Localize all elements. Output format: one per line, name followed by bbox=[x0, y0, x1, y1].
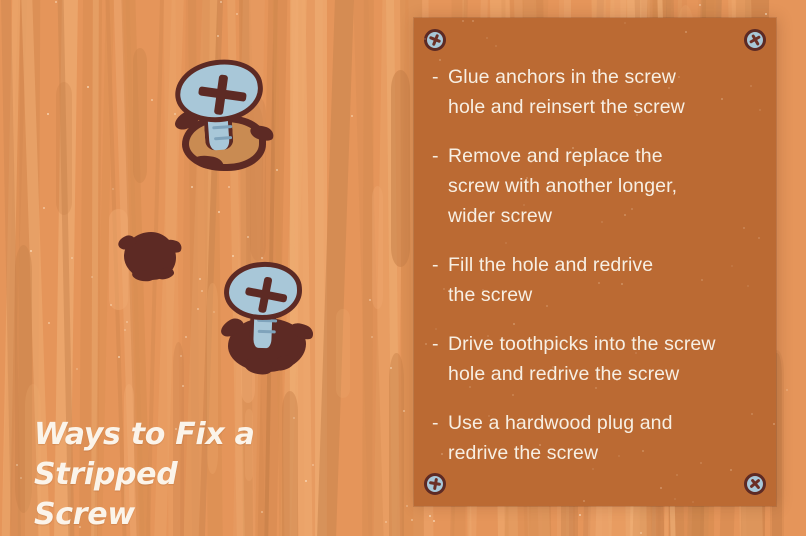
screw-thread bbox=[212, 125, 232, 129]
wood-speck bbox=[151, 99, 153, 101]
list-bullet: - bbox=[432, 408, 448, 468]
wood-speck bbox=[87, 86, 89, 88]
list-item-text: Drive toothpicks into the screw hole and… bbox=[448, 329, 766, 389]
wood-speck bbox=[385, 521, 387, 523]
panel-speck bbox=[647, 155, 649, 157]
wood-speck bbox=[390, 367, 392, 369]
wood-speck bbox=[217, 35, 219, 37]
page-title-line-1: Ways to Fix a Stripped bbox=[34, 415, 384, 495]
page-title-line-2: Screw Hole bbox=[34, 495, 214, 536]
panel-speck bbox=[435, 328, 437, 330]
panel-speck bbox=[674, 498, 676, 500]
list-item: -Drive toothpicks into the screw hole an… bbox=[432, 329, 766, 389]
wood-speck bbox=[48, 322, 50, 324]
screw-thread bbox=[258, 330, 276, 334]
panel-screw-top-left bbox=[424, 29, 446, 51]
panel-speck bbox=[486, 37, 488, 39]
wood-speck bbox=[30, 250, 32, 252]
panel-speck bbox=[523, 261, 525, 263]
panel-speck bbox=[589, 158, 591, 160]
title-block: Ways to Fix a Stripped Screw Hole from t… bbox=[34, 415, 384, 536]
panel-speck bbox=[572, 73, 574, 75]
tips-list: -Glue anchors in the screw hole and rein… bbox=[432, 62, 766, 487]
wood-speck bbox=[199, 278, 201, 280]
panel-speck bbox=[773, 423, 775, 425]
list-item: -Glue anchors in the screw hole and rein… bbox=[432, 62, 766, 122]
wood-speck bbox=[403, 410, 405, 412]
wood-speck bbox=[351, 115, 353, 117]
list-bullet: - bbox=[432, 329, 448, 389]
wood-speck bbox=[369, 299, 371, 301]
wood-speck bbox=[191, 186, 193, 188]
panel-speck bbox=[618, 455, 620, 457]
wood-grain-streak bbox=[389, 353, 403, 536]
wood-speck bbox=[118, 356, 120, 358]
wood-grain-streak bbox=[391, 70, 410, 267]
panel-screw-top-right bbox=[744, 29, 766, 51]
wood-speck bbox=[433, 520, 435, 522]
list-item: -Fill the hole and redrive the screw bbox=[432, 250, 766, 310]
wood-speck bbox=[43, 207, 45, 209]
panel-speck bbox=[468, 290, 470, 292]
screw-thread bbox=[214, 136, 232, 140]
stripped-screw-upper bbox=[160, 60, 300, 175]
tips-panel: -Glue anchors in the screw hole and rein… bbox=[414, 18, 776, 506]
list-item-text: Glue anchors in the screw hole and reins… bbox=[448, 62, 766, 122]
wood-speck bbox=[110, 304, 112, 306]
list-bullet: - bbox=[432, 141, 448, 231]
panel-speck bbox=[513, 323, 515, 325]
wood-speck bbox=[640, 532, 642, 534]
wood-speck bbox=[236, 13, 238, 15]
wood-speck bbox=[55, 1, 57, 3]
list-item: -Remove and replace the screw with anoth… bbox=[432, 141, 766, 231]
list-item: -Use a hardwood plug and redrive the scr… bbox=[432, 408, 766, 468]
panel-speck bbox=[631, 208, 633, 210]
panel-speck bbox=[759, 109, 761, 111]
panel-speck bbox=[424, 38, 426, 40]
panel-speck bbox=[462, 20, 464, 22]
wood-speck bbox=[786, 389, 788, 391]
list-item-text: Use a hardwood plug and redrive the scre… bbox=[448, 408, 766, 468]
wood-speck bbox=[47, 113, 49, 115]
list-item-text: Remove and replace the screw with anothe… bbox=[448, 141, 766, 231]
panel-speck bbox=[730, 469, 732, 471]
panel-speck bbox=[660, 487, 662, 489]
infographic-canvas: Ways to Fix a Stripped Screw Hole from t… bbox=[0, 0, 806, 536]
panel-speck bbox=[624, 22, 626, 24]
wood-grain-streak bbox=[56, 82, 72, 215]
wood-speck bbox=[429, 515, 431, 517]
panel-speck bbox=[621, 283, 623, 285]
panel-speck bbox=[572, 147, 574, 149]
screw-head-icon bbox=[223, 260, 304, 322]
panel-speck bbox=[528, 155, 530, 157]
panel-speck bbox=[488, 415, 490, 417]
panel-speck bbox=[472, 20, 474, 22]
wood-speck bbox=[180, 355, 182, 357]
wood-speck bbox=[371, 336, 373, 338]
panel-speck bbox=[635, 352, 637, 354]
panel-speck bbox=[495, 45, 497, 47]
wood-grain-streak bbox=[372, 186, 383, 308]
list-bullet: - bbox=[432, 62, 448, 122]
wood-speck bbox=[76, 368, 78, 370]
panel-speck bbox=[758, 237, 760, 239]
list-bullet: - bbox=[432, 250, 448, 310]
panel-speck bbox=[670, 76, 672, 78]
panel-speck bbox=[692, 501, 694, 503]
panel-speck bbox=[512, 394, 514, 396]
wood-speck bbox=[197, 308, 199, 310]
panel-speck bbox=[425, 343, 427, 345]
panel-speck bbox=[539, 444, 541, 446]
wood-speck bbox=[247, 236, 249, 238]
panel-speck bbox=[583, 500, 585, 502]
wood-speck bbox=[579, 514, 581, 516]
empty-stripped-hole bbox=[118, 228, 188, 288]
wood-speck bbox=[218, 211, 220, 213]
list-item-text: Fill the hole and redrive the screw bbox=[448, 250, 766, 310]
panel-speck bbox=[678, 76, 680, 78]
wood-grain-streak bbox=[133, 48, 147, 183]
wood-speck bbox=[20, 477, 22, 479]
panel-speck bbox=[700, 462, 702, 464]
stripped-screw-lower bbox=[218, 262, 338, 380]
panel-speck bbox=[685, 31, 687, 33]
